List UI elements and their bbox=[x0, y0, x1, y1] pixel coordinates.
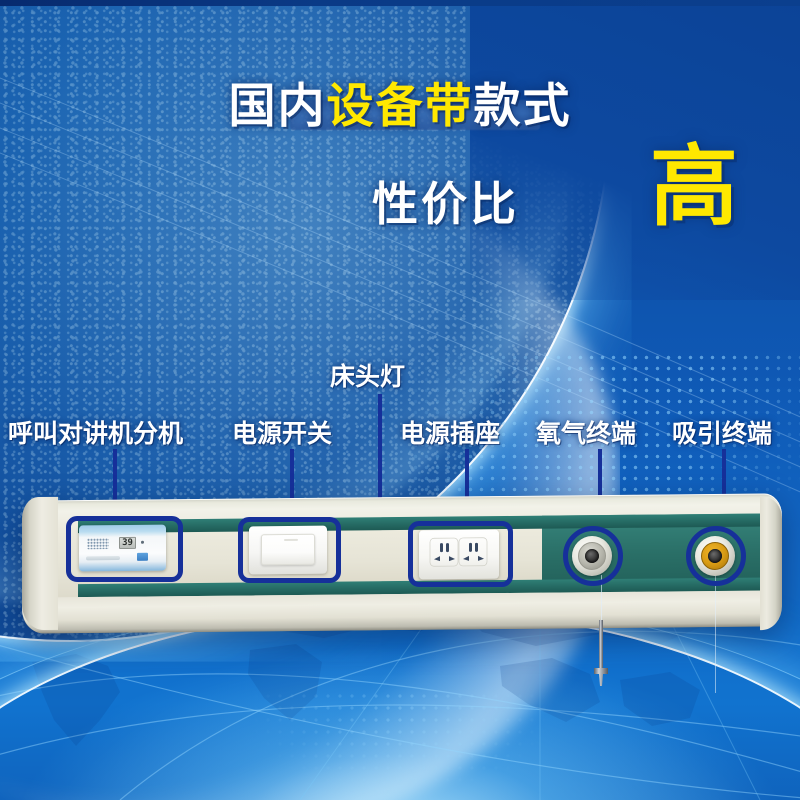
panel-right-end-cap bbox=[760, 497, 782, 630]
panel-left-end-cap bbox=[22, 497, 58, 630]
highlight-circle-suction bbox=[686, 526, 746, 586]
suction-hose-line bbox=[715, 575, 716, 693]
panel-bottom-lip bbox=[22, 590, 782, 633]
callout-labels: 呼叫对讲机分机 电源开关 床头灯 电源插座 氧气终端 吸引终端 bbox=[0, 0, 800, 800]
highlight-box-power-socket bbox=[408, 521, 513, 587]
callout-oxygen-terminal: 氧气终端 bbox=[536, 414, 636, 450]
callout-suction-terminal: 吸引终端 bbox=[672, 414, 772, 450]
callout-power-switch: 电源开关 bbox=[232, 414, 332, 450]
metal-connector-probe bbox=[586, 620, 616, 700]
highlight-box-intercom bbox=[66, 516, 183, 582]
callout-power-socket: 电源插座 bbox=[400, 414, 500, 450]
highlight-box-power-switch bbox=[238, 517, 341, 583]
callout-intercom: 呼叫对讲机分机 bbox=[8, 414, 183, 450]
callout-bed-lamp: 床头灯 bbox=[330, 357, 405, 393]
highlight-circle-oxygen bbox=[563, 526, 623, 586]
